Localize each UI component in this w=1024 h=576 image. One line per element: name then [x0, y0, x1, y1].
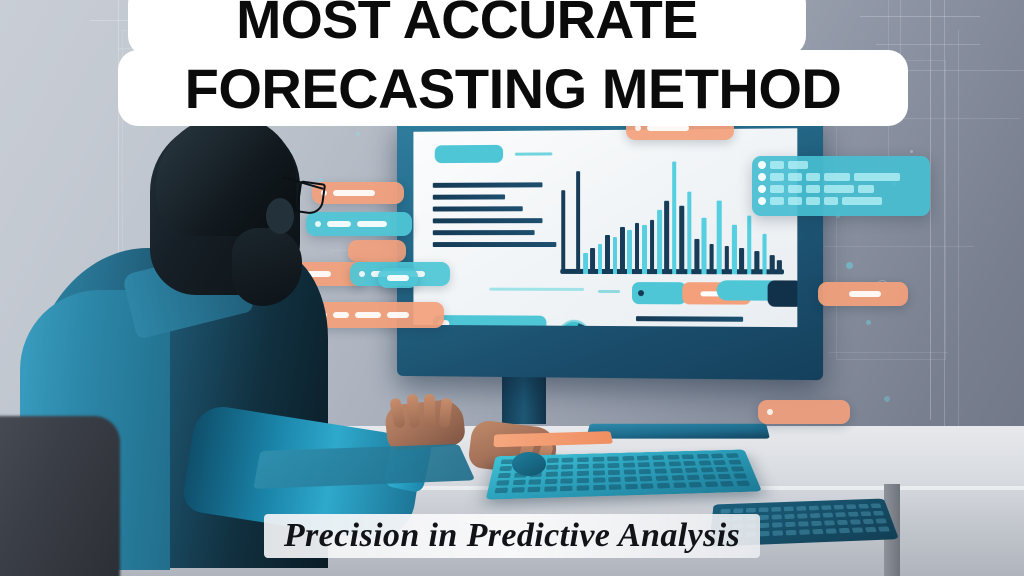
- keyboard-key[interactable]: [592, 457, 604, 462]
- keyboard-key[interactable]: [545, 472, 557, 477]
- table-cell: [858, 185, 874, 193]
- holo-card-left-3[interactable]: [348, 240, 406, 262]
- dashboard-left-panel: [413, 128, 797, 132]
- table-cell: [842, 197, 882, 205]
- tablet-key[interactable]: [846, 504, 857, 509]
- tablet-key[interactable]: [837, 520, 848, 525]
- left-text-line: [433, 242, 557, 247]
- keyboard-key[interactable]: [685, 468, 698, 473]
- checkbox-icon[interactable]: [758, 173, 766, 181]
- tablet-key[interactable]: [848, 512, 859, 517]
- tablet-key[interactable]: [858, 504, 869, 509]
- tablet-key[interactable]: [811, 521, 822, 526]
- keyboard-key[interactable]: [622, 456, 634, 461]
- left-text-line: [433, 194, 505, 199]
- keyboard-key[interactable]: [608, 463, 620, 468]
- tablet-key[interactable]: [797, 514, 807, 519]
- keyboard-key[interactable]: [670, 468, 683, 473]
- keyboard-key[interactable]: [641, 483, 654, 489]
- tablet-key[interactable]: [772, 522, 782, 527]
- keyboard-key[interactable]: [577, 478, 589, 483]
- keyboard-key[interactable]: [656, 476, 669, 481]
- tablet-key[interactable]: [759, 515, 769, 520]
- keyboard-key[interactable]: [653, 462, 666, 467]
- glasses-lens-icon: [296, 180, 326, 215]
- keyboard-key[interactable]: [638, 462, 650, 467]
- table-cell: [824, 185, 854, 193]
- keyboard-key[interactable]: [562, 458, 574, 463]
- subtitle-banner: Precision in Predictive Analysis: [264, 514, 760, 558]
- tablet-key[interactable]: [720, 509, 730, 514]
- tablet-key[interactable]: [759, 507, 769, 512]
- keyboard-key[interactable]: [546, 465, 558, 470]
- tablet-key[interactable]: [746, 508, 756, 513]
- keyboard-key[interactable]: [560, 486, 573, 492]
- keyboard-key[interactable]: [607, 456, 619, 461]
- person-ear: [266, 198, 294, 234]
- chart-bar: [620, 227, 625, 274]
- chart-bar: [762, 234, 767, 274]
- keyboard-key[interactable]: [577, 485, 590, 491]
- chart-bar: [732, 225, 737, 275]
- tablet-key[interactable]: [799, 529, 810, 534]
- keyboard-key[interactable]: [499, 466, 512, 471]
- keyboard-key[interactable]: [593, 485, 606, 491]
- tablet-key[interactable]: [821, 505, 831, 510]
- chart-bar: [605, 235, 610, 274]
- keyboard-key[interactable]: [609, 484, 622, 490]
- chart-bar: [724, 246, 729, 274]
- monitor-screen: [413, 128, 797, 327]
- keyboard-key[interactable]: [683, 461, 696, 466]
- keyboard-key[interactable]: [624, 476, 637, 481]
- chart-bar: [687, 192, 692, 274]
- checkbox-icon[interactable]: [758, 197, 766, 205]
- divider-line: [489, 288, 584, 291]
- holo-chip: [387, 275, 409, 281]
- tablet-key[interactable]: [839, 528, 850, 533]
- keyboard-key[interactable]: [512, 480, 525, 485]
- title-line-2: FORECASTING METHOD: [185, 56, 842, 121]
- person-finger: [424, 394, 435, 428]
- holo-card-right-orange-1[interactable]: [818, 282, 908, 306]
- tablet-key[interactable]: [784, 507, 794, 512]
- keyboard-key[interactable]: [593, 477, 605, 482]
- tablet-key[interactable]: [823, 513, 834, 518]
- chart-bar: [770, 255, 775, 274]
- table-cell: [788, 173, 802, 181]
- keyboard-key[interactable]: [704, 481, 718, 487]
- table-cell: [770, 185, 784, 193]
- tablet-key[interactable]: [824, 520, 835, 525]
- tag-cyan-dot: [638, 290, 644, 296]
- table-cell: [806, 185, 820, 193]
- table-row[interactable]: [758, 197, 924, 205]
- holo-table-right[interactable]: [752, 156, 930, 216]
- tablet-key[interactable]: [785, 522, 796, 527]
- right-text-line: [636, 316, 743, 322]
- keyboard-key[interactable]: [623, 469, 635, 474]
- keyboard-key[interactable]: [733, 473, 747, 478]
- keyboard-key[interactable]: [637, 456, 649, 461]
- holo-chip: [387, 312, 409, 318]
- chart-bar: [709, 244, 714, 275]
- table-row[interactable]: [758, 161, 924, 169]
- holo-card-screen-left[interactable]: [378, 268, 418, 288]
- dashboard-badge[interactable]: [435, 145, 503, 163]
- tablet-key[interactable]: [733, 508, 743, 513]
- chart-bar: [680, 206, 685, 274]
- table-cell: [770, 173, 784, 181]
- chart-bar: [747, 215, 752, 274]
- keyboard-key[interactable]: [547, 458, 559, 463]
- keyboard-key[interactable]: [652, 455, 664, 460]
- keyboard-key[interactable]: [561, 478, 573, 483]
- keyboard-key[interactable]: [726, 453, 739, 458]
- title-line-1: MOST ACCURATE: [236, 0, 697, 51]
- holo-chip: [357, 221, 387, 227]
- subtitle-text: Precision in Predictive Analysis: [284, 517, 740, 555]
- table-cell: [788, 197, 802, 205]
- tablet-key[interactable]: [863, 519, 874, 524]
- keyboard-key[interactable]: [495, 488, 509, 494]
- chart-bar: [561, 190, 566, 274]
- chart-bar: [613, 237, 618, 274]
- keyboard-key[interactable]: [728, 460, 741, 465]
- tablet-key[interactable]: [873, 511, 884, 516]
- table-cell: [854, 173, 900, 181]
- title-banner-line2: FORECASTING METHOD: [118, 50, 908, 126]
- keyboard-key[interactable]: [625, 484, 638, 490]
- tablet-key[interactable]: [812, 529, 823, 534]
- chart-bar: [702, 218, 707, 275]
- keyboard-key[interactable]: [716, 467, 729, 472]
- office-chair: [0, 416, 120, 576]
- keyboard-key[interactable]: [496, 480, 509, 485]
- table-cell: [788, 161, 808, 169]
- keyboard-key[interactable]: [713, 460, 726, 465]
- keyboard-key[interactable]: [736, 481, 750, 487]
- tablet-key[interactable]: [852, 527, 864, 532]
- chart-bar: [755, 251, 760, 275]
- gauge-wedge: [574, 324, 584, 328]
- tablet-key[interactable]: [772, 530, 783, 535]
- keyboard-key[interactable]: [682, 454, 695, 459]
- chart-bar: [591, 248, 596, 274]
- tablet-key[interactable]: [835, 512, 846, 517]
- chart-bar: [598, 244, 603, 274]
- keyboard-key[interactable]: [639, 469, 652, 474]
- keyboard-key[interactable]: [528, 479, 541, 484]
- holo-chip: [355, 312, 381, 318]
- table-cell: [806, 173, 820, 181]
- tablet-key[interactable]: [870, 503, 881, 508]
- tablet-key[interactable]: [798, 521, 809, 526]
- chart-bar: [717, 201, 722, 274]
- tablet-key[interactable]: [826, 528, 837, 533]
- chart-bar: [635, 222, 640, 274]
- keyboard-key[interactable]: [657, 483, 670, 489]
- keyboard-key[interactable]: [687, 475, 700, 480]
- left-text-line: [433, 206, 523, 211]
- keyboard-key[interactable]: [696, 454, 709, 459]
- keyboard-key[interactable]: [698, 460, 711, 465]
- table-row[interactable]: [758, 185, 924, 193]
- tag-dark: [768, 280, 798, 306]
- keyboard-key[interactable]: [668, 461, 681, 466]
- keyboard-key[interactable]: [673, 482, 686, 488]
- keyboard-key[interactable]: [731, 466, 745, 471]
- keyboard-key[interactable]: [654, 469, 667, 474]
- poster-canvas: MOST ACCURATE FORECASTING METHOD Precisi…: [0, 0, 1024, 576]
- keyboard-key[interactable]: [527, 487, 540, 493]
- tablet-key[interactable]: [875, 518, 887, 523]
- checkbox-icon[interactable]: [758, 185, 766, 193]
- left-text-line: [433, 218, 543, 223]
- keyboard-key[interactable]: [544, 486, 557, 492]
- dashboard-badge-subline: [515, 152, 552, 155]
- keyboard-key[interactable]: [592, 463, 604, 468]
- tablet-key[interactable]: [796, 506, 806, 511]
- table-cell: [770, 197, 784, 205]
- monitor-base: [586, 424, 770, 439]
- left-text-line: [433, 230, 535, 235]
- keyboard-key[interactable]: [671, 475, 684, 480]
- chart-bar: [672, 161, 677, 274]
- keyboard-key[interactable]: [545, 479, 558, 484]
- keyboard-key[interactable]: [562, 464, 574, 469]
- chart-bar: [777, 260, 782, 274]
- tablet-key[interactable]: [810, 513, 821, 518]
- chart-bar: [576, 171, 581, 274]
- keyboard-key[interactable]: [720, 481, 734, 487]
- table-cell: [824, 197, 838, 205]
- tablet-key[interactable]: [850, 519, 861, 524]
- keyboard-key[interactable]: [577, 457, 589, 462]
- gauge-chart: [558, 320, 590, 327]
- chart-bar: [694, 239, 699, 274]
- holo-dot-icon: [359, 271, 365, 277]
- tablet-key[interactable]: [809, 506, 819, 511]
- keyboard-key[interactable]: [608, 477, 621, 482]
- divider-line-short: [598, 290, 620, 293]
- table-cell: [770, 161, 784, 169]
- keyboard-key[interactable]: [561, 471, 573, 476]
- tablet-key[interactable]: [759, 531, 770, 536]
- stat-card[interactable]: [433, 315, 547, 327]
- keyboard-key[interactable]: [593, 470, 605, 475]
- forecast-bar-chart: [560, 151, 784, 275]
- title-banner-line1: MOST ACCURATE: [128, 0, 806, 56]
- keyboard-key[interactable]: [667, 455, 680, 460]
- keyboard-key[interactable]: [711, 454, 724, 459]
- table-cell: [806, 197, 820, 205]
- keyboard-key[interactable]: [718, 474, 732, 479]
- monitor-stand-neck: [502, 372, 546, 424]
- keyboard-key[interactable]: [498, 473, 511, 478]
- keyboard-key[interactable]: [577, 471, 589, 476]
- left-text-line: [433, 182, 543, 187]
- table-cell: [788, 185, 802, 193]
- tablet-key[interactable]: [865, 527, 877, 532]
- holo-dot-icon: [767, 409, 773, 415]
- table-row[interactable]: [758, 173, 924, 181]
- holo-card-right-orange-2[interactable]: [758, 400, 850, 424]
- tablet-key[interactable]: [878, 526, 890, 531]
- tablet-key[interactable]: [860, 511, 871, 516]
- tablet-key[interactable]: [833, 505, 844, 510]
- chart-bar: [627, 230, 632, 275]
- chart-bar: [665, 201, 670, 274]
- keyboard-knob[interactable]: [512, 452, 546, 476]
- keyboard-key[interactable]: [702, 474, 716, 479]
- tablet-key[interactable]: [786, 530, 797, 535]
- holo-chip: [849, 291, 881, 297]
- tablet-key[interactable]: [772, 514, 782, 519]
- chart-bar: [740, 248, 745, 274]
- keyboard-key[interactable]: [608, 470, 620, 475]
- chart-bar: [650, 220, 655, 274]
- tablet-key[interactable]: [784, 514, 794, 519]
- chart-bar: [657, 209, 662, 274]
- chart-bar: [583, 253, 588, 274]
- tablet-key[interactable]: [771, 507, 781, 512]
- keyboard-key[interactable]: [577, 464, 589, 469]
- keyboard-key[interactable]: [640, 476, 653, 481]
- keyboard-key[interactable]: [623, 463, 635, 468]
- tablet-key[interactable]: [759, 523, 769, 528]
- keyboard-key[interactable]: [700, 467, 713, 472]
- chart-bar: [642, 225, 647, 274]
- keyboard-key[interactable]: [511, 487, 524, 493]
- table-cell: [824, 173, 850, 181]
- checkbox-icon[interactable]: [758, 161, 766, 169]
- keyboard-key[interactable]: [689, 482, 703, 488]
